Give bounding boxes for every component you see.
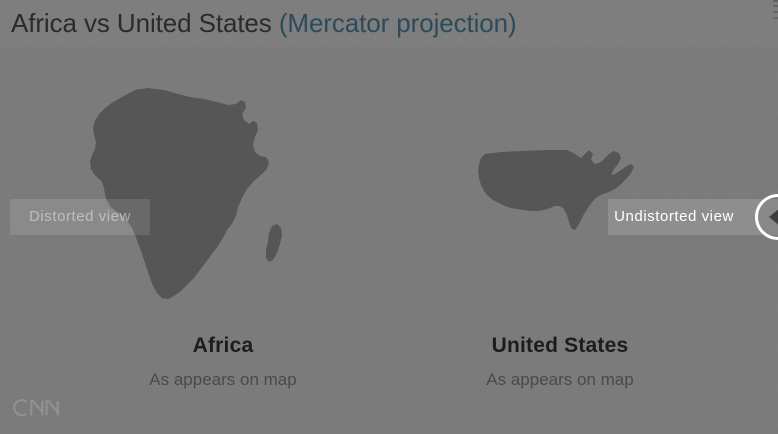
cnn-logo-mark	[12, 397, 64, 419]
country-caption-africa: As appears on map	[58, 368, 388, 391]
tab-distorted-view[interactable]: Distorted view	[10, 199, 150, 235]
infographic-stage: Africa vs United States (Mercator projec…	[0, 0, 778, 434]
country-name-africa: Africa	[58, 333, 388, 359]
country-name-united-states: United States	[395, 333, 725, 359]
cnn-logo	[12, 397, 64, 419]
tab-undistorted-view[interactable]: Undistorted view	[608, 199, 778, 235]
tab-undistorted-view-label: Undistorted view	[614, 208, 734, 225]
tab-distorted-view-label: Distorted view	[29, 208, 131, 225]
country-caption-united-states: As appears on map	[395, 368, 725, 391]
chevron-left-glyph	[769, 208, 778, 226]
edge-artifact	[773, 0, 778, 26]
africa-map-shape	[86, 83, 286, 308]
